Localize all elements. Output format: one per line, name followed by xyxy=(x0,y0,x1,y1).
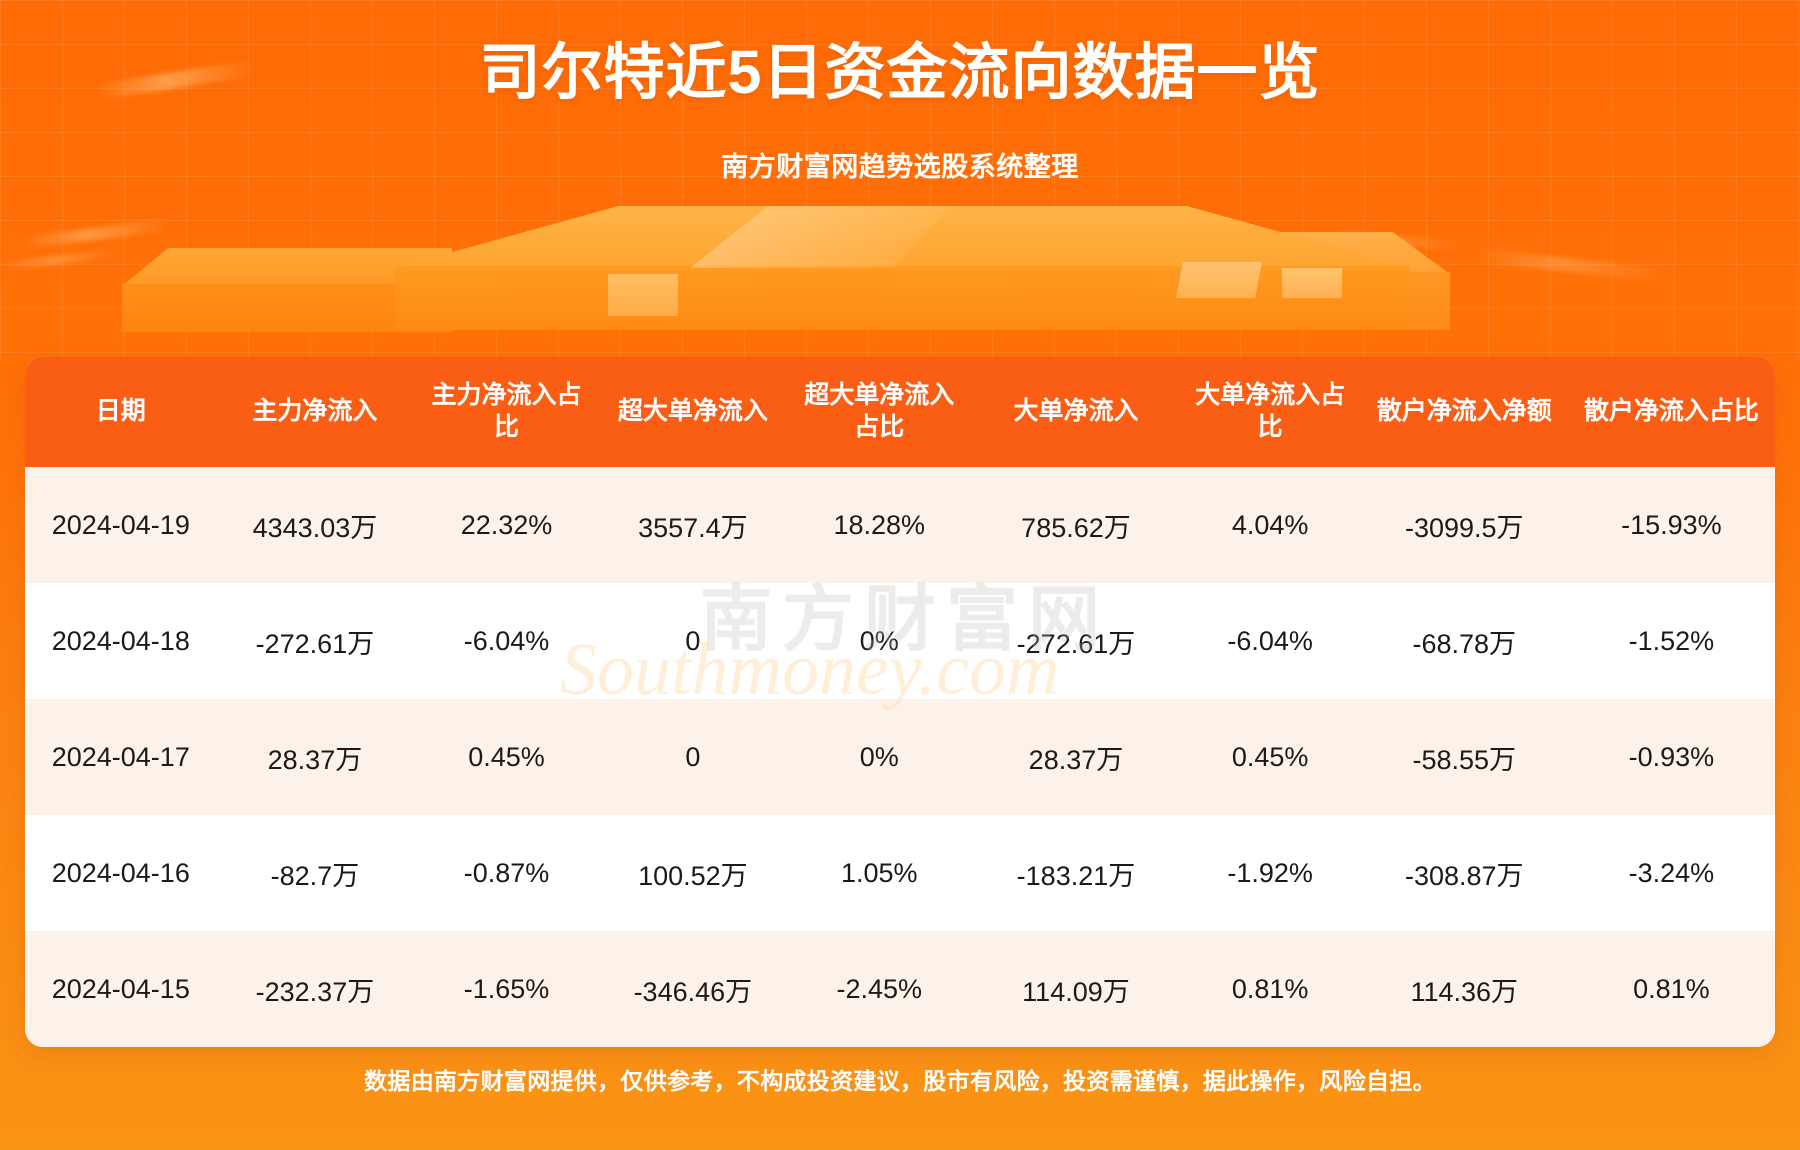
cell-date: 2024-04-16 xyxy=(25,815,217,931)
table-header-row: 日期 主力净流入 主力净流入占比 超大单净流入 超大单净流入占比 大单净流入 大… xyxy=(25,357,1775,467)
column-header-xl-net: 超大单净流入 xyxy=(600,357,786,467)
cell-main-net: 4343.03万 xyxy=(217,467,414,583)
cell-date: 2024-04-15 xyxy=(25,931,217,1047)
cell-retail-pct: 0.81% xyxy=(1568,931,1775,1047)
cell-lg-pct: 0.81% xyxy=(1180,931,1361,1047)
cell-lg-pct: -1.92% xyxy=(1180,815,1361,931)
column-header-date: 日期 xyxy=(25,357,217,467)
cell-xl-net: 0 xyxy=(600,699,786,815)
column-header-lg-pct: 大单净流入占比 xyxy=(1180,357,1361,467)
table-row: 2024-04-16 -82.7万 -0.87% 100.52万 1.05% -… xyxy=(25,815,1775,931)
cell-lg-pct: -6.04% xyxy=(1180,583,1361,699)
cell-xl-pct: 0% xyxy=(786,699,972,815)
podium-block-center xyxy=(395,206,1410,268)
cell-lg-net: 28.37万 xyxy=(972,699,1179,815)
cell-xl-pct: 18.28% xyxy=(786,467,972,583)
cell-retail-net: -3099.5万 xyxy=(1361,467,1568,583)
cell-lg-net: 785.62万 xyxy=(972,467,1179,583)
podium-block-right-face xyxy=(1040,272,1450,330)
cell-xl-pct: -2.45% xyxy=(786,931,972,1047)
podium-block-right xyxy=(1040,232,1450,274)
table-row: 2024-04-18 -272.61万 -6.04% 0 0% -272.61万… xyxy=(25,583,1775,699)
table-body: 2024-04-19 4343.03万 22.32% 3557.4万 18.28… xyxy=(25,467,1775,1047)
cell-retail-pct: -1.52% xyxy=(1568,583,1775,699)
cell-retail-pct: -3.24% xyxy=(1568,815,1775,931)
cell-lg-pct: 4.04% xyxy=(1180,467,1361,583)
podium-block-left xyxy=(122,248,452,286)
cell-main-pct: 22.32% xyxy=(413,467,599,583)
disclaimer-text: 数据由南方财富网提供，仅供参考，不构成投资建议，股市有风险，投资需谨慎，据此操作… xyxy=(0,1062,1800,1096)
cell-retail-net: -68.78万 xyxy=(1361,583,1568,699)
cell-main-net: -232.37万 xyxy=(217,931,414,1047)
cell-retail-net: -58.55万 xyxy=(1361,699,1568,815)
cell-date: 2024-04-19 xyxy=(25,467,217,583)
cell-main-net: -82.7万 xyxy=(217,815,414,931)
cell-main-pct: 0.45% xyxy=(413,699,599,815)
podium-chip-decoration xyxy=(608,274,678,316)
cell-xl-pct: 1.05% xyxy=(786,815,972,931)
cell-lg-net: 114.09万 xyxy=(972,931,1179,1047)
cell-xl-net: -346.46万 xyxy=(600,931,786,1047)
podium-block-center-face xyxy=(395,266,1410,330)
cell-date: 2024-04-18 xyxy=(25,583,217,699)
podium-chip-decoration xyxy=(1176,262,1262,298)
table-header: 日期 主力净流入 主力净流入占比 超大单净流入 超大单净流入占比 大单净流入 大… xyxy=(25,357,1775,467)
cell-lg-pct: 0.45% xyxy=(1180,699,1361,815)
data-table-card: 日期 主力净流入 主力净流入占比 超大单净流入 超大单净流入占比 大单净流入 大… xyxy=(25,357,1775,1047)
table-row: 2024-04-17 28.37万 0.45% 0 0% 28.37万 0.45… xyxy=(25,699,1775,815)
cell-lg-net: -183.21万 xyxy=(972,815,1179,931)
cell-xl-net: 0 xyxy=(600,583,786,699)
cell-date: 2024-04-17 xyxy=(25,699,217,815)
cell-main-net: 28.37万 xyxy=(217,699,414,815)
table-row: 2024-04-19 4343.03万 22.32% 3557.4万 18.28… xyxy=(25,467,1775,583)
page-subtitle: 南方财富网趋势选股系统整理 xyxy=(0,145,1800,184)
page-title: 司尔特近5日资金流向数据一览 xyxy=(0,38,1800,106)
table-row: 2024-04-15 -232.37万 -1.65% -346.46万 -2.4… xyxy=(25,931,1775,1047)
cell-lg-net: -272.61万 xyxy=(972,583,1179,699)
column-header-xl-pct: 超大单净流入占比 xyxy=(786,357,972,467)
column-header-retail-net: 散户净流入净额 xyxy=(1361,357,1568,467)
fund-flow-table: 日期 主力净流入 主力净流入占比 超大单净流入 超大单净流入占比 大单净流入 大… xyxy=(25,357,1775,1047)
cell-main-pct: -1.65% xyxy=(413,931,599,1047)
cell-retail-net: -308.87万 xyxy=(1361,815,1568,931)
cell-xl-pct: 0% xyxy=(786,583,972,699)
light-streak-decoration xyxy=(1470,248,1670,283)
cell-retail-pct: -0.93% xyxy=(1568,699,1775,815)
column-header-lg-net: 大单净流入 xyxy=(972,357,1179,467)
podium-chip-decoration xyxy=(1282,268,1342,298)
light-streak-decoration xyxy=(1330,230,1470,252)
podium-sheen-decoration xyxy=(690,206,950,268)
cell-xl-net: 3557.4万 xyxy=(600,467,786,583)
cell-retail-net: 114.36万 xyxy=(1361,931,1568,1047)
column-header-retail-pct: 散户净流入占比 xyxy=(1568,357,1775,467)
column-header-main-pct: 主力净流入占比 xyxy=(413,357,599,467)
cell-main-pct: -0.87% xyxy=(413,815,599,931)
cell-xl-net: 100.52万 xyxy=(600,815,786,931)
cell-main-pct: -6.04% xyxy=(413,583,599,699)
light-streak-decoration xyxy=(0,249,120,270)
light-streak-decoration xyxy=(20,219,170,249)
podium-block-left-face xyxy=(122,284,452,332)
column-header-main-net: 主力净流入 xyxy=(217,357,414,467)
cell-retail-pct: -15.93% xyxy=(1568,467,1775,583)
cell-main-net: -272.61万 xyxy=(217,583,414,699)
poster-root: 司尔特近5日资金流向数据一览 南方财富网趋势选股系统整理 日期 主力净流入 主力… xyxy=(0,0,1800,1150)
